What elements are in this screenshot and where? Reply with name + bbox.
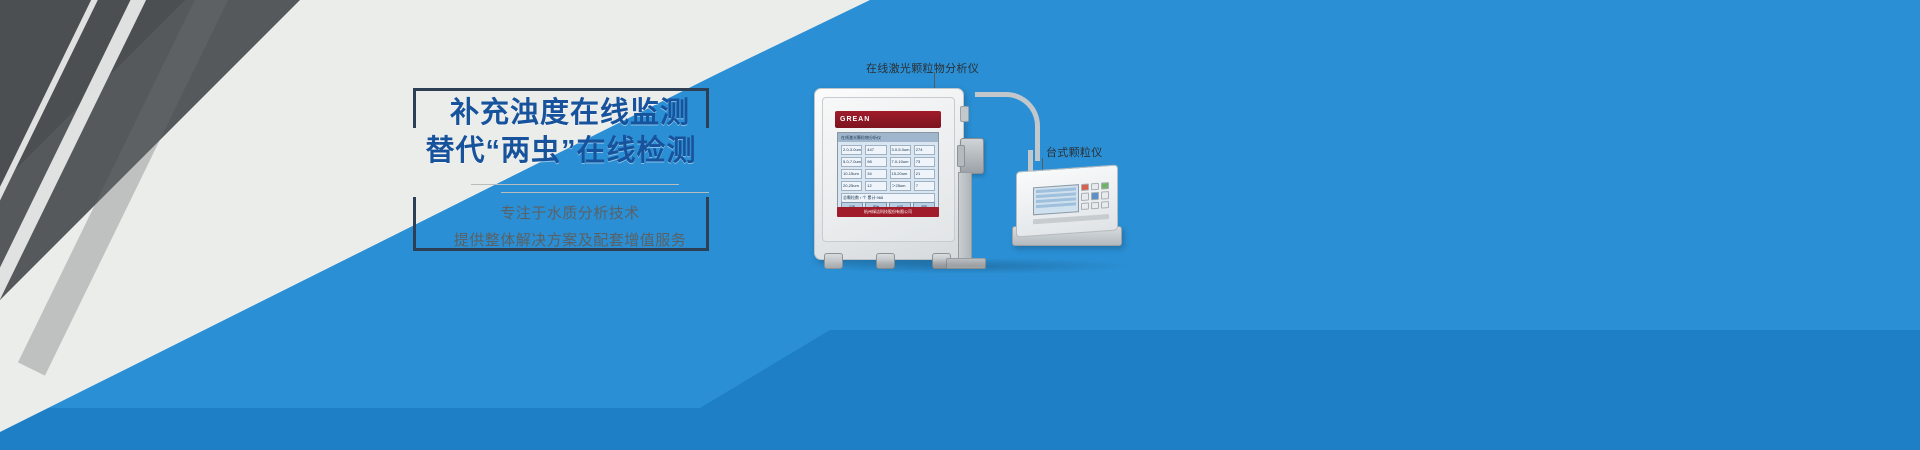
- display-cell: 447: [865, 145, 886, 155]
- display-cell: 3.0-5.0um: [890, 145, 911, 155]
- online-laser-particle-analyzer: GREAN 在线激光颗粒物分析仪 2.0-3.0um 447 3.0-5.0um…: [814, 88, 964, 260]
- bench-key[interactable]: [1091, 201, 1099, 209]
- display-cell: 7.0-10um: [890, 157, 911, 167]
- display-cell: 10-15um: [841, 169, 862, 179]
- display-row: 2.0-3.0um 447 3.0-5.0um 274: [841, 145, 935, 155]
- bench-display: [1033, 184, 1079, 215]
- display-data-grid: 2.0-3.0um 447 3.0-5.0um 274 5.0-7.0um 98…: [841, 145, 935, 205]
- subtitle-line-2: 提供整体解决方案及配套增值服务: [431, 227, 709, 254]
- analyzer-mounting-post: [958, 172, 972, 266]
- display-title: 在线激光颗粒物分析仪: [838, 133, 938, 142]
- bench-key[interactable]: [1101, 201, 1109, 209]
- frame-bottom-left-corner: [413, 197, 416, 251]
- callout-label-bench-counter: 台式颗粒仪: [1046, 144, 1103, 160]
- page-title: 补充浊度在线监测 替代“两虫”在线检测: [413, 94, 709, 170]
- bench-key[interactable]: [1091, 183, 1099, 191]
- bench-front-strip: [1033, 214, 1109, 224]
- divider-line-lower: [501, 192, 709, 193]
- port-cap: [957, 145, 965, 167]
- display-cell: 73: [914, 157, 935, 167]
- bench-key[interactable]: [1091, 192, 1099, 200]
- display-cell: 20-25um: [841, 181, 862, 191]
- frame-top-border: [413, 88, 709, 91]
- display-cell: 7: [914, 181, 935, 191]
- bench-key[interactable]: [1081, 183, 1089, 191]
- display-cell: 34: [865, 169, 886, 179]
- bench-display-line: [1036, 202, 1076, 208]
- display-row: 5.0-7.0um 98 7.0-10um 73: [841, 157, 935, 167]
- divider-line-upper: [471, 184, 679, 185]
- bench-key[interactable]: [1081, 202, 1089, 210]
- display-cell: ＞25um: [890, 181, 911, 191]
- headline-block: 补充浊度在线监测 替代“两虫”在线检测 专注于水质分析技术 提供整体解决方案及配…: [413, 88, 709, 251]
- display-row: 10-15um 34 15-20um 21: [841, 169, 935, 179]
- bench-key[interactable]: [1101, 182, 1109, 190]
- callout-label-analyzer: 在线激光颗粒物分析仪: [866, 60, 979, 76]
- brand-logo-text: GREAN: [840, 116, 870, 123]
- product-shadow: [812, 258, 1132, 274]
- analyzer-display: 在线激光颗粒物分析仪 2.0-3.0um 447 3.0-5.0um 274 5…: [837, 132, 939, 216]
- subtitle-line-1: 专注于水质分析技术: [431, 200, 709, 227]
- display-cell: 2.0-3.0um: [841, 145, 862, 155]
- analyzer-brand-bar: GREAN: [835, 111, 941, 128]
- headline-line-1: 补充浊度在线监测: [413, 94, 709, 132]
- analyzer-footer-text: 杭州绿洁科技股份有限公司: [837, 207, 939, 217]
- bench-keypad[interactable]: [1081, 182, 1109, 210]
- analyzer-hinge-top: [960, 106, 969, 122]
- divider-group: [471, 184, 709, 193]
- display-cell: 98: [865, 157, 886, 167]
- display-cell: 21: [914, 169, 935, 179]
- benchtop-particle-counter: [1012, 168, 1120, 246]
- subtitle-block: 专注于水质分析技术 提供整体解决方案及配套增值服务: [431, 200, 709, 254]
- analyzer-door-panel: GREAN 在线激光颗粒物分析仪 2.0-3.0um 447 3.0-5.0um…: [822, 97, 955, 242]
- bench-key[interactable]: [1081, 193, 1089, 201]
- bench-key[interactable]: [1101, 191, 1109, 199]
- headline-line-2: 替代“两虫”在线检测: [413, 132, 709, 170]
- display-cell: 12: [865, 181, 886, 191]
- display-cell: 5.0-7.0um: [841, 157, 862, 167]
- product-banner: 补充浊度在线监测 替代“两虫”在线检测 专注于水质分析技术 提供整体解决方案及配…: [0, 0, 1920, 450]
- display-cell: 15-20um: [890, 169, 911, 179]
- display-row: 20-25um 12 ＞25um 7: [841, 181, 935, 191]
- display-cell: 274: [914, 145, 935, 155]
- bench-top-panel: [1016, 164, 1118, 237]
